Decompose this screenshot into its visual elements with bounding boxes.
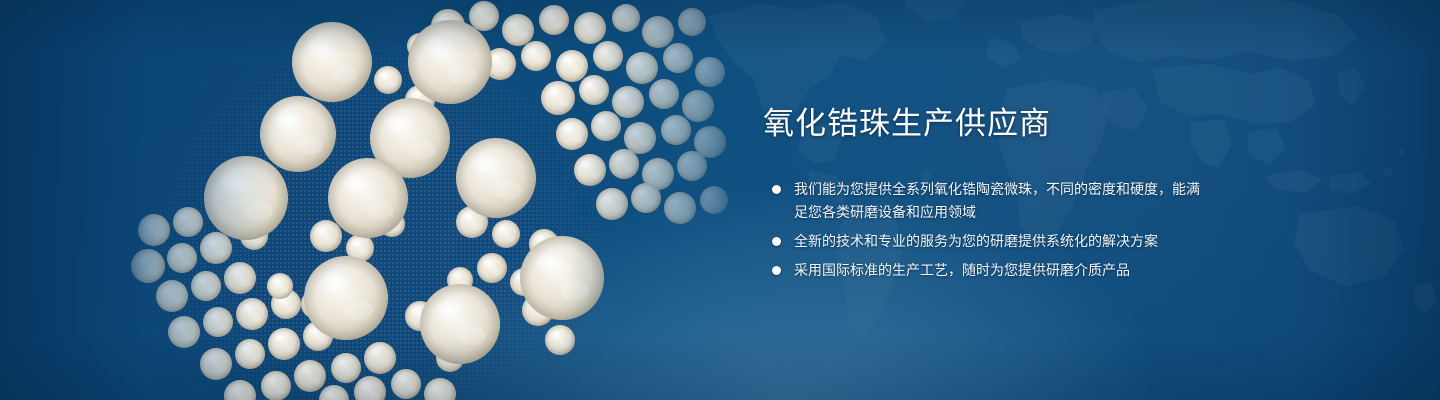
list-item-label: 采用国际标准的生产工艺，随时为您提供研磨介质产品 — [794, 262, 1130, 278]
page-title: 氧化锆珠生产供应商 — [763, 104, 1203, 144]
list-item: 采用国际标准的生产工艺，随时为您提供研磨介质产品 — [763, 259, 1203, 282]
list-item: 全新的技术和专业的服务为您的研磨提供系统化的解决方案 — [763, 230, 1203, 253]
list-item-label: 全新的技术和专业的服务为您的研磨提供系统化的解决方案 — [794, 233, 1158, 249]
bullet-circle-icon — [772, 237, 781, 246]
bullet-circle-icon — [772, 185, 781, 194]
feature-list: 我们能为您提供全系列氧化锆陶瓷微珠，不同的密度和硬度，能满足您各类研磨设备和应用… — [763, 178, 1203, 282]
hero-banner: 氧化锆珠生产供应商 我们能为您提供全系列氧化锆陶瓷微珠，不同的密度和硬度，能满足… — [0, 0, 1440, 400]
zirconia-beads-photo — [120, 0, 740, 400]
bead-cluster-illustration — [120, 0, 740, 400]
bullet-circle-icon — [772, 266, 781, 275]
list-item-label: 我们能为您提供全系列氧化锆陶瓷微珠，不同的密度和硬度，能满足您各类研磨设备和应用… — [794, 181, 1200, 220]
list-item: 我们能为您提供全系列氧化锆陶瓷微珠，不同的密度和硬度，能满足您各类研磨设备和应用… — [763, 178, 1203, 224]
hero-copy-block: 氧化锆珠生产供应商 我们能为您提供全系列氧化锆陶瓷微珠，不同的密度和硬度，能满足… — [763, 104, 1203, 282]
